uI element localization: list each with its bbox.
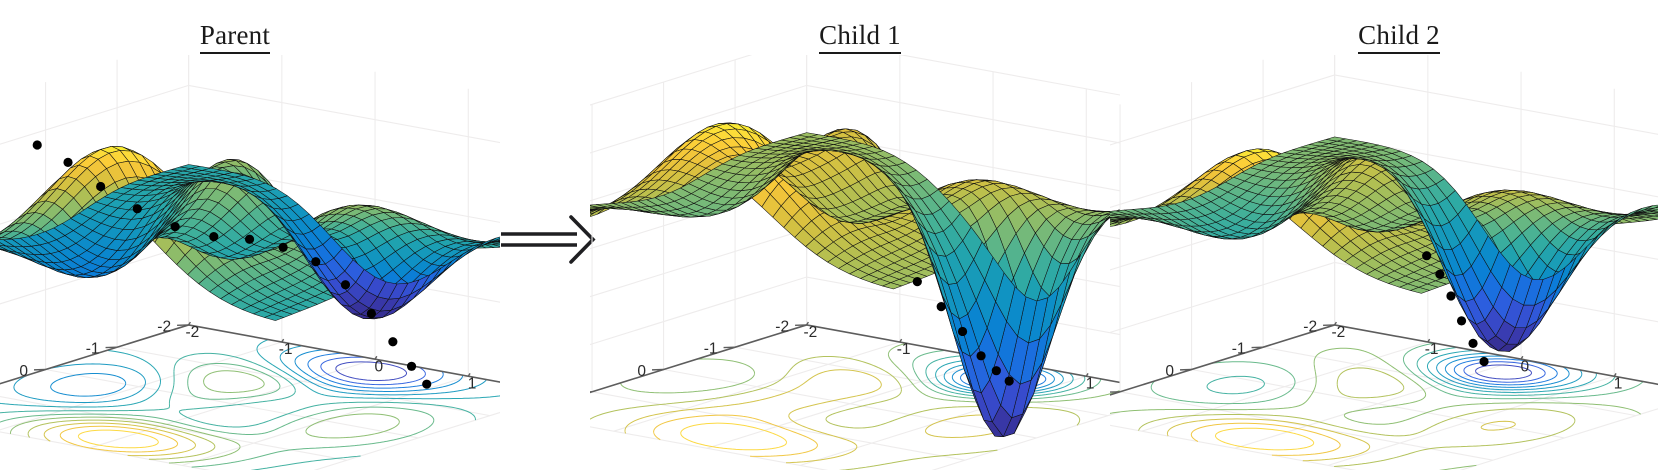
contour-line xyxy=(0,363,434,467)
trajectory-point xyxy=(1479,357,1488,366)
trajectory-point xyxy=(279,243,288,252)
trajectory-point xyxy=(422,380,431,389)
x-axis-line xyxy=(189,325,500,393)
grid-line xyxy=(590,55,1120,127)
grid-line xyxy=(189,325,500,393)
trajectory-point xyxy=(913,277,922,286)
y-axis-line xyxy=(1110,325,1335,414)
grid-line xyxy=(1110,325,1335,414)
contour-line xyxy=(28,420,215,459)
trajectory-point xyxy=(33,140,42,149)
y-tick-label: -1 xyxy=(86,341,100,358)
plot-panel-parent: Parent 210-1-2-2-101250-5-10 xyxy=(0,0,500,470)
trajectory-point xyxy=(958,327,967,336)
panel-title-child2-text: Child 2 xyxy=(1358,20,1440,54)
x-tick-label: -2 xyxy=(803,324,817,341)
contour-projection xyxy=(1110,343,1643,470)
x-tick-label: 0 xyxy=(375,358,384,375)
figure-root: Parent 210-1-2-2-101250-5-10 Child 1 210… xyxy=(0,0,1658,470)
trajectory-point xyxy=(1468,339,1477,348)
grid-line xyxy=(0,325,500,414)
y-tick-label: -2 xyxy=(157,318,171,335)
y-tick-label: 0 xyxy=(637,363,646,380)
x-tick-label: 1 xyxy=(1614,375,1623,392)
trajectory-point xyxy=(341,280,350,289)
panel-title-parent: Parent xyxy=(0,20,485,51)
y-tick-label: -2 xyxy=(775,318,789,335)
y-tick-label: -1 xyxy=(704,341,718,358)
contour-line xyxy=(681,423,787,450)
contour-line xyxy=(336,362,407,381)
trajectory-point xyxy=(63,158,72,167)
contour-line xyxy=(1437,353,1582,390)
panel-title-parent-text: Parent xyxy=(200,20,270,54)
x-tick-label: -2 xyxy=(185,324,199,341)
y-tick-label: 0 xyxy=(1165,363,1174,380)
trajectory-point xyxy=(96,182,105,191)
surface-plot-child2: 210-1-2-2-101250-5-10-15 xyxy=(1110,55,1658,470)
x-tick-label: -1 xyxy=(897,341,911,358)
plot-panel-child2: Child 2 210-1-2-2-101250-5-10-15 xyxy=(1110,0,1658,470)
x-tick-label: 1 xyxy=(1086,375,1095,392)
trajectory-point xyxy=(1005,376,1014,385)
trajectory-point xyxy=(976,351,985,360)
x-tick-label: 1 xyxy=(468,375,477,392)
y-tick-label: -2 xyxy=(1303,318,1317,335)
panel-title-child2: Child 2 xyxy=(1125,20,1658,51)
contour-projection xyxy=(0,340,500,470)
trajectory-point xyxy=(133,204,142,213)
trajectory-point xyxy=(311,257,320,266)
trajectory-point xyxy=(1446,291,1455,300)
x-tick-label: -1 xyxy=(279,341,293,358)
contour-line xyxy=(1138,368,1574,467)
y-tick-label: -1 xyxy=(1232,341,1246,358)
grid-line xyxy=(0,85,500,174)
trajectory-point xyxy=(388,337,397,346)
trajectory-point xyxy=(1422,251,1431,260)
trajectory-point xyxy=(171,222,180,231)
surface-plot-child1: 210-1-2-2-1012210-1-2-3-4 xyxy=(590,55,1120,470)
trajectory-point xyxy=(209,232,218,241)
grid-line xyxy=(275,393,500,470)
plot-panel-child1: Child 1 210-1-2-2-1012210-1-2-3-4 xyxy=(590,0,1120,470)
x-tick-label: -1 xyxy=(1425,341,1439,358)
contour-line xyxy=(10,371,399,463)
surface-mesh xyxy=(0,146,500,320)
transition-arrow xyxy=(495,205,605,275)
double-right-arrow-icon xyxy=(495,205,605,275)
trajectory-point xyxy=(1457,316,1466,325)
x-tick-label: -2 xyxy=(1331,324,1345,341)
trajectory-point xyxy=(245,235,254,244)
y-tick-label: 0 xyxy=(19,363,28,380)
x-tick-label: 0 xyxy=(1521,358,1530,375)
grid-line xyxy=(1421,393,1658,470)
grid-line xyxy=(590,414,893,470)
trajectory-point xyxy=(937,302,946,311)
surface-plot-parent: 210-1-2-2-101250-5-10 xyxy=(0,55,500,470)
trajectory-point xyxy=(1435,270,1444,279)
trajectory-point xyxy=(367,309,376,318)
panel-title-child1: Child 1 xyxy=(595,20,1125,51)
trajectory-point xyxy=(992,366,1001,375)
trajectory-point xyxy=(407,362,416,371)
panel-title-child1-text: Child 1 xyxy=(819,20,901,54)
contour-line xyxy=(0,353,475,470)
